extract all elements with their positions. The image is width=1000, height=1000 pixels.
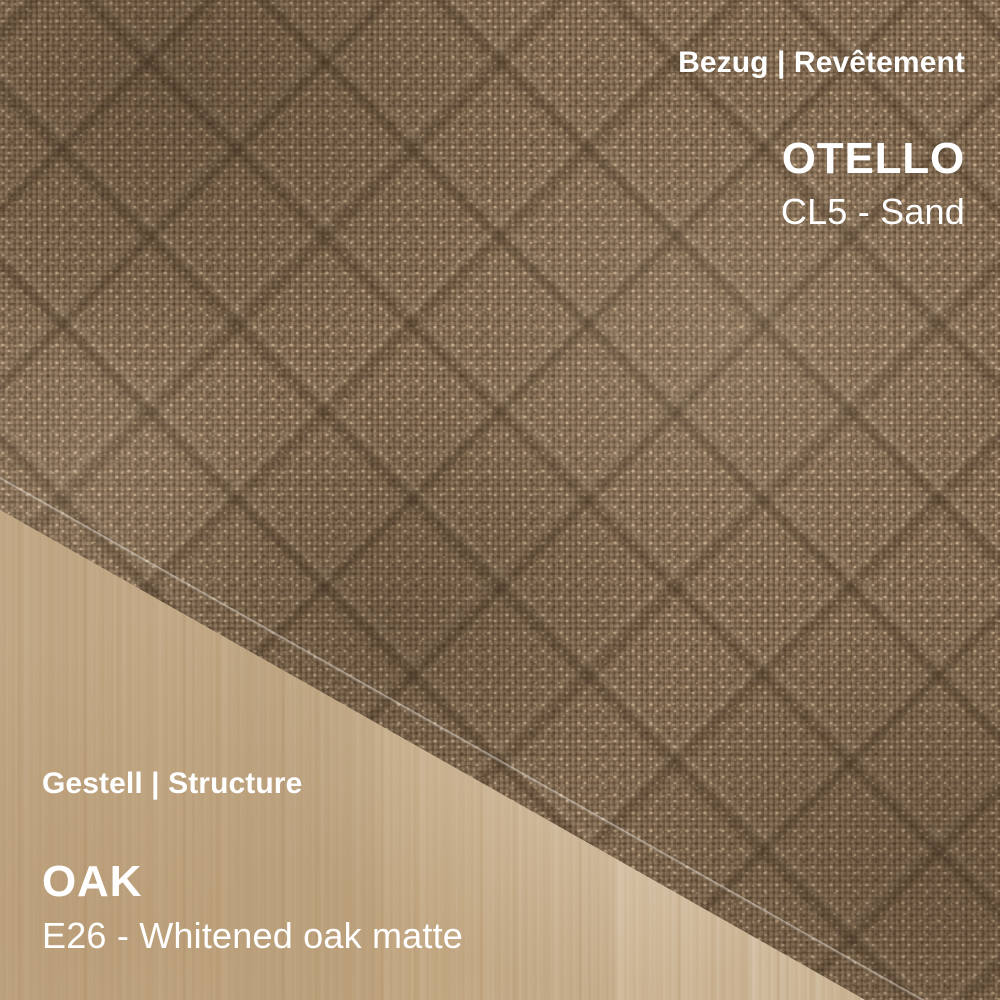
structure-label-spacer: [42, 800, 463, 858]
upholstery-color-code: CL5 - Sand: [678, 191, 965, 232]
structure-category-label: Gestell | Structure: [42, 767, 463, 800]
material-swatch-card: Bezug | Revêtement OTELLO CL5 - Sand Ges…: [0, 0, 1000, 1000]
structure-label-block: Gestell | Structure OAK E26 - Whitened o…: [42, 767, 463, 956]
structure-finish-code: E26 - Whitened oak matte: [42, 915, 463, 956]
upholstery-category-label: Bezug | Revêtement: [678, 46, 965, 79]
upholstery-material-name: OTELLO: [678, 135, 965, 183]
upholstery-label-block: Bezug | Revêtement OTELLO CL5 - Sand: [678, 46, 965, 233]
structure-material-name: OAK: [42, 858, 463, 906]
